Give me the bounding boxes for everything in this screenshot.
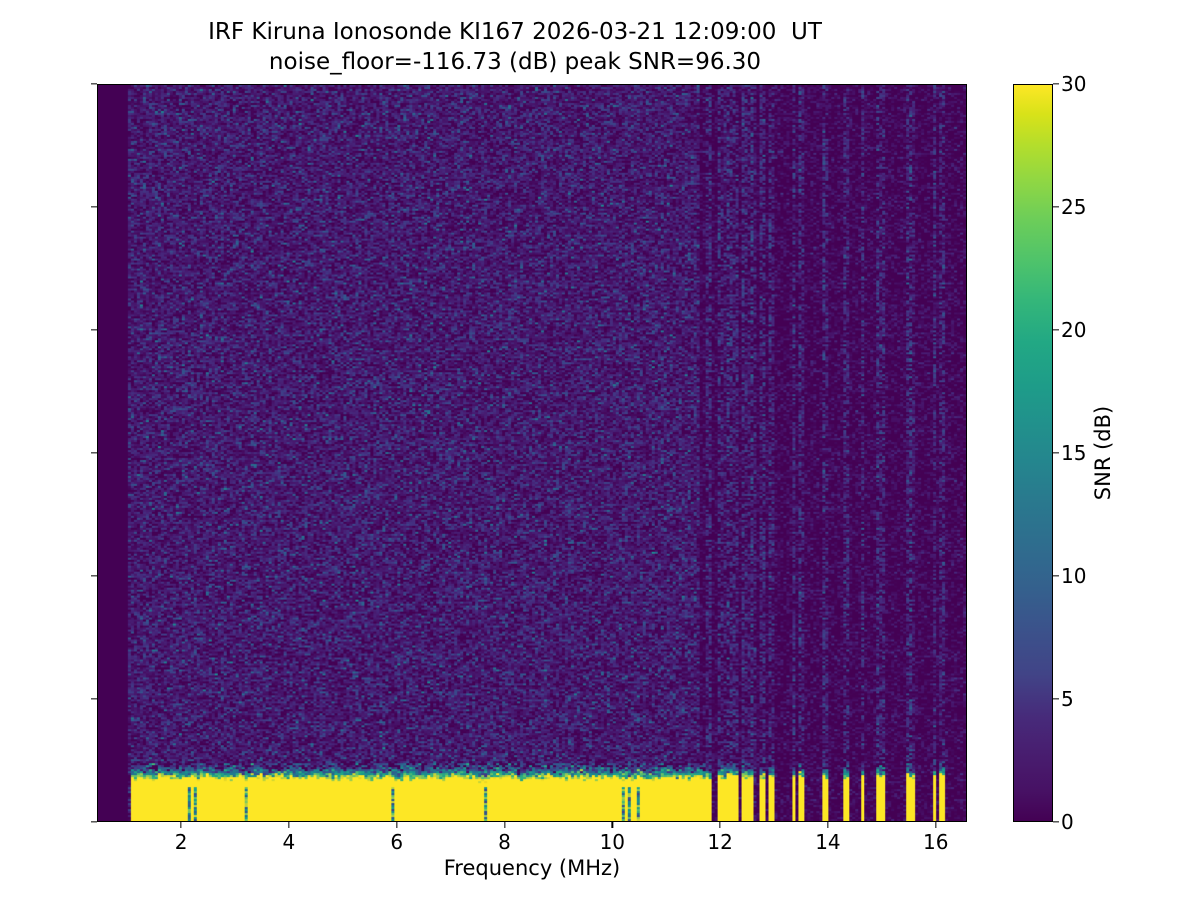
y-tick-mark (91, 83, 97, 84)
colorbar-gradient (1013, 84, 1053, 822)
y-tick-mark (91, 329, 97, 330)
x-axis-label: Frequency (MHz) (444, 856, 620, 880)
colorbar-tick-label: 25 (1061, 195, 1086, 219)
x-tick-mark (612, 822, 613, 828)
x-tick-label: 2 (175, 830, 188, 854)
plot-area (97, 84, 967, 822)
x-tick-label: 10 (600, 830, 625, 854)
colorbar-tick-mark (1053, 83, 1059, 84)
colorbar-tick-label: 15 (1061, 441, 1086, 465)
y-tick-mark (91, 698, 97, 699)
x-tick-mark (935, 822, 936, 828)
colorbar-tick-label: 5 (1061, 687, 1074, 711)
colorbar-tick-mark (1053, 206, 1059, 207)
colorbar-tick-mark (1053, 821, 1059, 822)
x-tick-mark (180, 822, 181, 828)
figure-title: IRF Kiruna Ionosonde KI167 2026-03-21 12… (0, 18, 1030, 78)
x-tick-mark (288, 822, 289, 828)
colorbar-tick-label: 30 (1061, 72, 1086, 96)
y-tick-mark (91, 452, 97, 453)
colorbar-tick-mark (1053, 329, 1059, 330)
x-tick-label: 8 (498, 830, 511, 854)
y-tick-mark (91, 575, 97, 576)
x-tick-mark (396, 822, 397, 828)
x-tick-mark (504, 822, 505, 828)
title-line-1: IRF Kiruna Ionosonde KI167 2026-03-21 12… (0, 18, 1030, 48)
x-tick-label: 4 (283, 830, 296, 854)
colorbar-tick-mark (1053, 698, 1059, 699)
x-tick-label: 16 (923, 830, 948, 854)
x-tick-label: 14 (815, 830, 840, 854)
colorbar-tick-label: 20 (1061, 318, 1086, 342)
x-tick-label: 6 (390, 830, 403, 854)
title-line-2: noise_floor=-116.73 (dB) peak SNR=96.30 (0, 48, 1030, 78)
colorbar-tick-label: 0 (1061, 810, 1074, 834)
colorbar (1013, 84, 1053, 822)
colorbar-tick-mark (1053, 575, 1059, 576)
colorbar-tick-mark (1053, 452, 1059, 453)
x-tick-mark (719, 822, 720, 828)
ionogram-heatmap (98, 85, 966, 821)
colorbar-label: SNR (dB) (1091, 406, 1115, 500)
x-tick-mark (827, 822, 828, 828)
y-tick-mark (91, 821, 97, 822)
y-tick-mark (91, 206, 97, 207)
x-tick-label: 12 (707, 830, 732, 854)
colorbar-tick-label: 10 (1061, 564, 1086, 588)
ionogram-figure: IRF Kiruna Ionosonde KI167 2026-03-21 12… (0, 0, 1200, 900)
